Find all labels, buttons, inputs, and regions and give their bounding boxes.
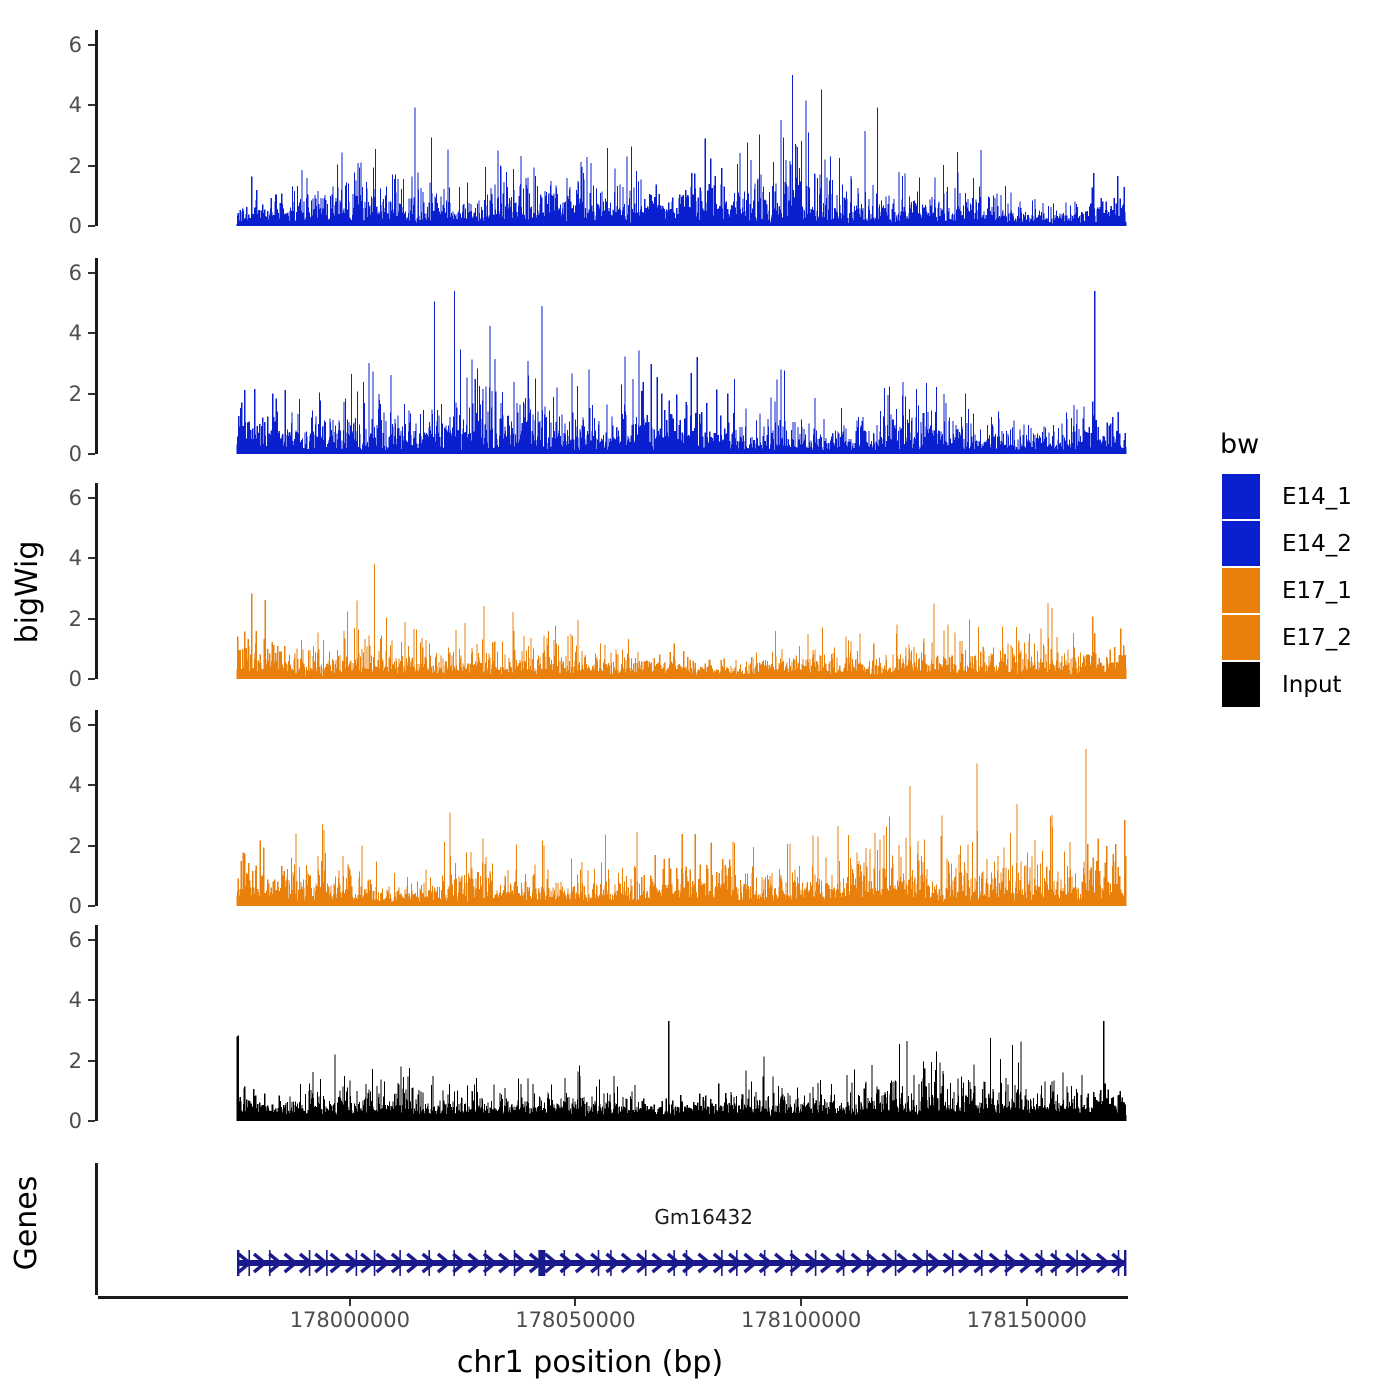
y-tick-mark xyxy=(88,557,95,559)
legend-item-input[interactable]: Input xyxy=(1212,661,1392,708)
y-tick-mark xyxy=(88,999,95,1001)
x-tick-mark xyxy=(1026,1299,1028,1306)
y-tick-label: 6 xyxy=(56,34,82,56)
y-tick-mark xyxy=(88,272,95,274)
y-tick-label: 2 xyxy=(56,835,82,857)
y-axis-title-bigwig: bigWig xyxy=(10,502,46,682)
coverage-trace-e17_2 xyxy=(98,710,1128,906)
y-tick-label: 4 xyxy=(56,547,82,569)
y-tick-label: 2 xyxy=(56,383,82,405)
y-tick-mark xyxy=(88,1120,95,1122)
y-tick-mark xyxy=(88,1060,95,1062)
legend-item-e14_2[interactable]: E14_2 xyxy=(1212,520,1392,567)
gene-name-label: Gm16432 xyxy=(584,1205,824,1229)
y-tick-mark xyxy=(88,618,95,620)
coverage-panel-e14_1 xyxy=(98,30,1128,226)
x-tick-label: 178100000 xyxy=(701,1308,901,1332)
y-tick-mark xyxy=(88,393,95,395)
coverage-panel-input xyxy=(98,925,1128,1121)
y-tick-mark xyxy=(88,939,95,941)
coverage-trace-e17_1 xyxy=(98,483,1128,679)
y-tick-mark xyxy=(88,497,95,499)
coverage-panel-e17_2 xyxy=(98,710,1128,906)
y-tick-label: 4 xyxy=(56,322,82,344)
legend-item-label: E14_2 xyxy=(1282,531,1352,557)
legend-item-label: E17_2 xyxy=(1282,625,1352,651)
coverage-trace-input xyxy=(98,925,1128,1121)
y-tick-label: 2 xyxy=(56,1050,82,1072)
legend-color-swatch xyxy=(1222,615,1260,660)
legend-color-swatch xyxy=(1222,568,1260,613)
coverage-panel-e17_1 xyxy=(98,483,1128,679)
y-tick-mark xyxy=(88,678,95,680)
y-tick-mark xyxy=(88,845,95,847)
y-tick-label: 6 xyxy=(56,714,82,736)
legend: bw E14_1E14_2E17_1E17_2Input xyxy=(1212,430,1392,708)
y-tick-label: 2 xyxy=(56,155,82,177)
y-tick-label: 0 xyxy=(56,895,82,917)
y-tick-mark xyxy=(88,104,95,106)
y-tick-label: 6 xyxy=(56,929,82,951)
y-tick-mark xyxy=(88,724,95,726)
y-tick-label: 2 xyxy=(56,608,82,630)
legend-item-label: Input xyxy=(1282,672,1342,698)
x-axis-title: chr1 position (bp) xyxy=(0,1345,1180,1380)
y-tick-mark xyxy=(88,332,95,334)
x-axis-line xyxy=(98,1296,1128,1299)
y-tick-label: 0 xyxy=(56,215,82,237)
coverage-trace-e14_2 xyxy=(98,258,1128,454)
legend-color-swatch xyxy=(1222,474,1260,519)
y-tick-label: 4 xyxy=(56,774,82,796)
y-tick-label: 4 xyxy=(56,94,82,116)
x-tick-mark xyxy=(349,1299,351,1306)
legend-items: E14_1E14_2E17_1E17_2Input xyxy=(1212,473,1392,708)
y-tick-label: 0 xyxy=(56,668,82,690)
y-tick-mark xyxy=(88,784,95,786)
y-tick-mark xyxy=(88,225,95,227)
y-axis-title-genes: Genes xyxy=(9,1163,45,1283)
y-tick-label: 6 xyxy=(56,262,82,284)
gene-model-gm16432[interactable] xyxy=(98,1163,1128,1295)
x-tick-mark xyxy=(800,1299,802,1306)
x-tick-label: 178000000 xyxy=(250,1308,450,1332)
genome-browser-figure: bigWig Genes 0246E14_10246E14_20246E17_1… xyxy=(0,0,1400,1400)
legend-item-label: E17_1 xyxy=(1282,578,1352,604)
x-tick-mark xyxy=(574,1299,576,1306)
coverage-trace-e14_1 xyxy=(98,30,1128,226)
y-tick-mark xyxy=(88,165,95,167)
y-tick-label: 6 xyxy=(56,487,82,509)
y-tick-mark xyxy=(88,905,95,907)
gene-panel xyxy=(98,1163,1128,1295)
y-tick-mark xyxy=(88,44,95,46)
legend-color-swatch xyxy=(1222,662,1260,707)
y-tick-label: 0 xyxy=(56,1110,82,1132)
legend-title: bw xyxy=(1220,430,1392,460)
coverage-panel-e14_2 xyxy=(98,258,1128,454)
legend-item-e17_2[interactable]: E17_2 xyxy=(1212,614,1392,661)
x-tick-label: 178150000 xyxy=(927,1308,1127,1332)
y-tick-mark xyxy=(88,453,95,455)
y-tick-label: 4 xyxy=(56,989,82,1011)
x-tick-label: 178050000 xyxy=(475,1308,675,1332)
y-tick-label: 0 xyxy=(56,443,82,465)
legend-color-swatch xyxy=(1222,521,1260,566)
legend-item-label: E14_1 xyxy=(1282,484,1352,510)
legend-item-e17_1[interactable]: E17_1 xyxy=(1212,567,1392,614)
legend-item-e14_1[interactable]: E14_1 xyxy=(1212,473,1392,520)
